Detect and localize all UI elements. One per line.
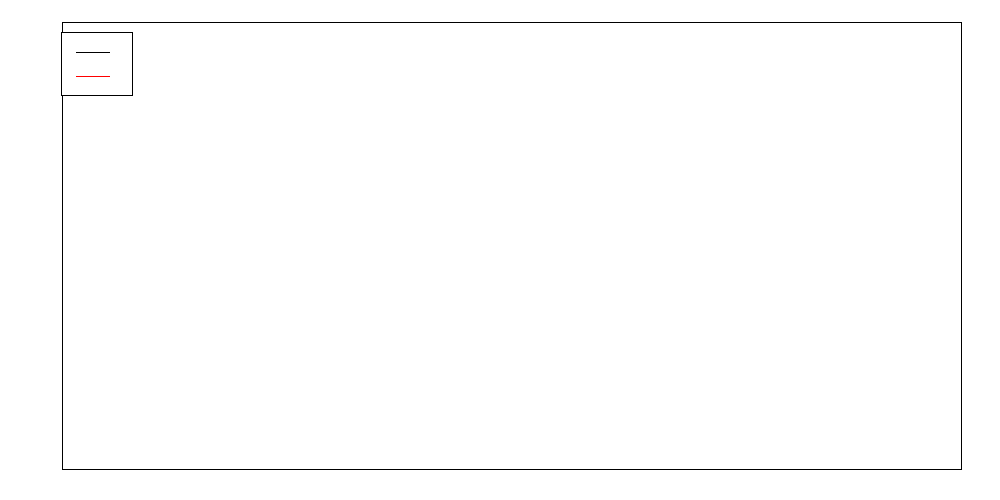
plot-axes	[62, 22, 962, 470]
legend-line-permuted	[76, 52, 110, 53]
legend-item-permuted	[70, 40, 122, 64]
legend-line-patient	[76, 76, 110, 77]
legend	[61, 32, 133, 96]
legend-item-patient	[70, 64, 122, 88]
figure	[0, 0, 1000, 500]
